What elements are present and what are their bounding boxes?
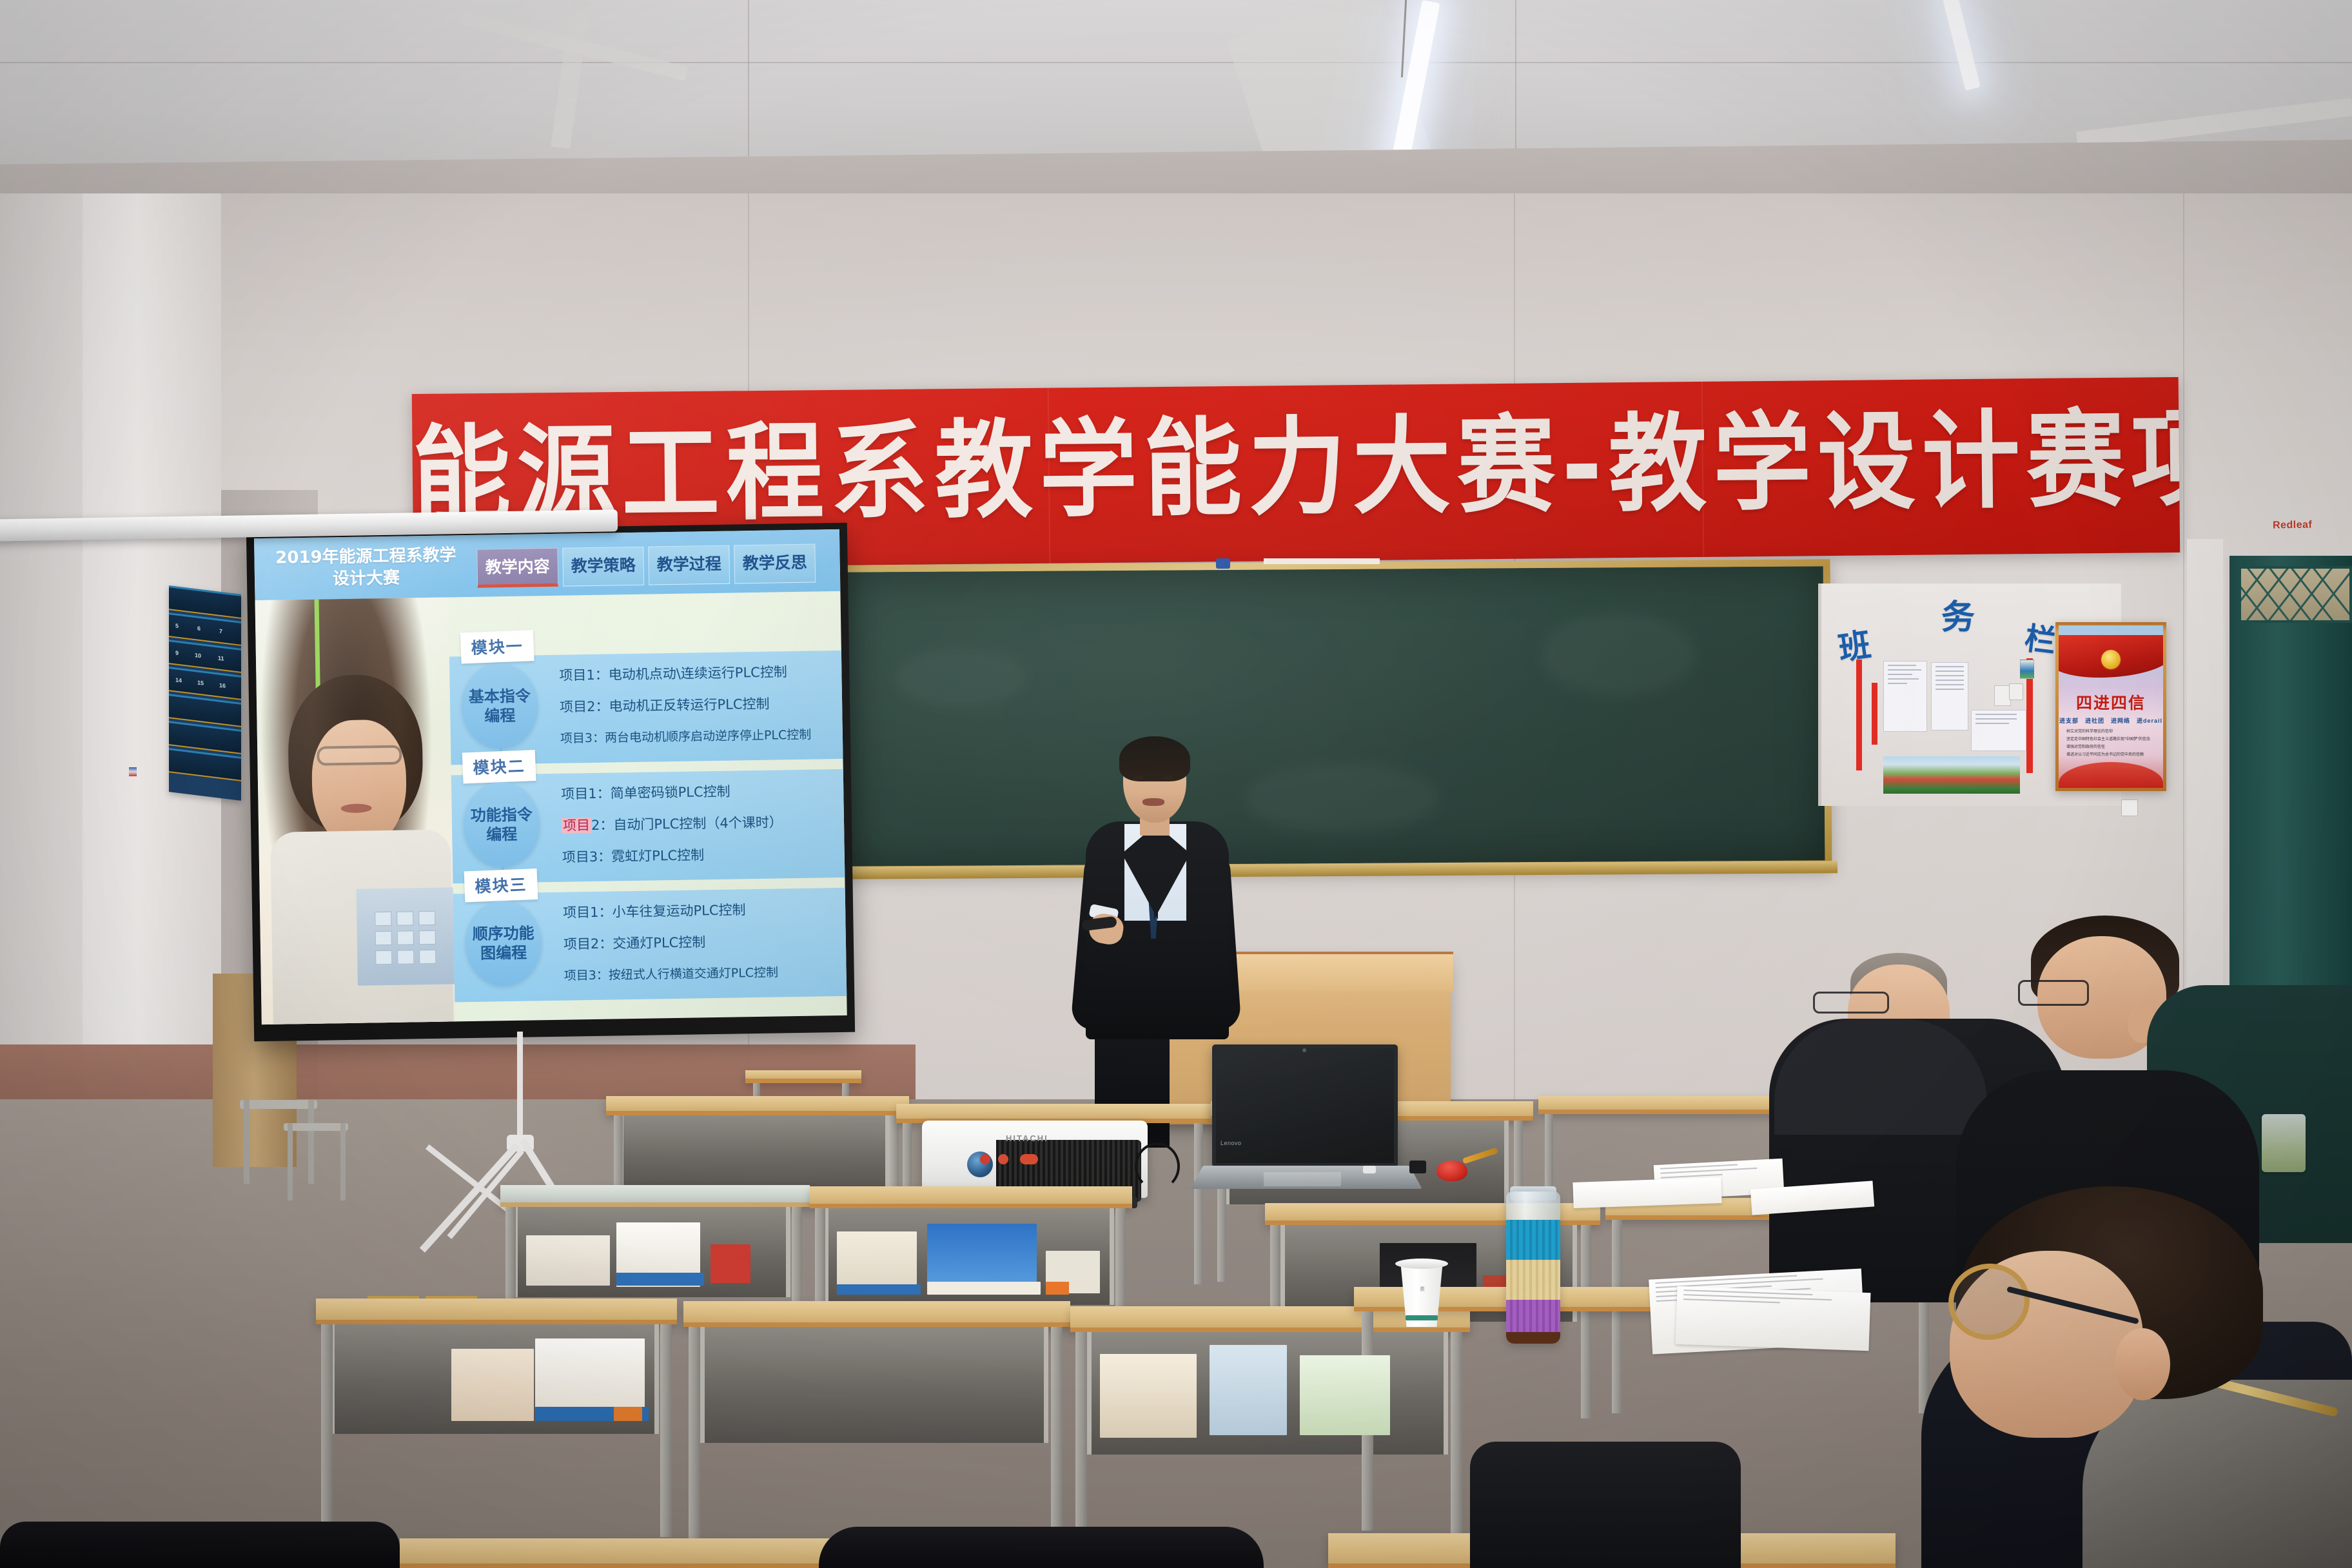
module-1-item-2: 项目2：电动机正反转运行PLC控制 [560, 688, 811, 723]
cubby-books-5 [1093, 1341, 1448, 1451]
class-board-char-3: 栏 [2023, 612, 2059, 661]
laptop-usb-dongle [1409, 1161, 1426, 1173]
desk-row1-a-cubby [619, 1115, 890, 1193]
paper-cup-logo: 茶 [1402, 1286, 1443, 1293]
poster-bullet: 增进对以习近平同志为总书记的党中央的信赖 [2066, 752, 2158, 758]
module-3-item-1: 项目1：小车往复运动PLC控制 [563, 894, 778, 929]
cubby-books-1 [520, 1219, 778, 1295]
laptop-brand-label: Lenovo [1220, 1140, 1242, 1146]
projector-brand-label: HITACHI [1006, 1133, 1048, 1143]
door-transom-window [2239, 566, 2352, 623]
projector-cable-2 [1135, 1142, 1180, 1190]
module-3-item-3: 项目3：按纽式人行横道交通灯PLC控制 [563, 957, 778, 992]
projection-screen: 2019年能源工程系教学设计大赛 教学内容 教学策略 教学过程 教学反思 [246, 523, 855, 1042]
desk-small-item [1363, 1166, 1376, 1173]
desk-row1-a [606, 1096, 909, 1115]
paper-cup-rim [1395, 1259, 1448, 1269]
light-switch-plate[interactable] [2009, 683, 2023, 700]
blackboard [838, 559, 1832, 873]
four-advance-poster: 四进四信 进支部 进社团 进网络 进derail 树立对党的科学理论的信仰 坚定… [2055, 622, 2166, 791]
slide-tab-reflection: 教学反思 [734, 544, 816, 584]
module-3-tag: 模块三 [464, 868, 538, 902]
module-2-item-2-rest: 2：自动门PLC控制（4个课时） [591, 814, 783, 833]
poster-bullet: 树立对党的科学理论的信仰 [2066, 729, 2158, 734]
projector-power-led [980, 1154, 990, 1164]
poster-bullet: 坚定走中国特色社会主义道路实现“中国梦”的信念 [2066, 737, 2158, 742]
paper-cup-band [1406, 1315, 1438, 1320]
judge-glass [2262, 1114, 2306, 1172]
laptop-screen[interactable] [1212, 1044, 1398, 1167]
slide-tab-process: 教学过程 [648, 545, 730, 585]
wall-sticker [129, 767, 137, 776]
class-board-char-1: 班 [1835, 619, 1874, 669]
blackboard-magnet [1216, 558, 1230, 569]
slide-tab-bar: 教学内容 教学策略 教学过程 教学反思 [476, 544, 816, 588]
module-3-items: 项目1：小车往复运动PLC控制 项目2：交通灯PLC控制 项目3：按纽式人行横道… [563, 894, 779, 992]
slide-title: 2019年能源工程系教学设计大赛 [272, 544, 460, 591]
notice-sheet-2 [1931, 662, 1968, 730]
laptop-webcam-icon [1302, 1048, 1306, 1052]
cubby-books-2 [833, 1220, 1110, 1304]
module-2-item-2-highlight: 项目 [562, 818, 591, 834]
module-2-items: 项目1：简单密码锁PLC控制 项目2：自动门PLC控制（4个课时） 项目3：霓虹… [561, 775, 783, 873]
youth-league-emblem-icon [2101, 650, 2121, 669]
poster-bullet: 增强对党和政府的信任 [2066, 745, 2158, 750]
judge-paper-2 [1573, 1177, 1721, 1208]
poster-title: 四进四信 [2059, 691, 2163, 714]
module-2-item-2: 项目2：自动门PLC控制（4个课时） [562, 807, 783, 841]
projector-temp-led [1020, 1154, 1038, 1164]
poster-bullets: 树立对党的科学理论的信仰 坚定走中国特色社会主义道路实现“中国梦”的信念 增强对… [2066, 729, 2158, 760]
classroom-photo: 能源工程系教学能力大赛-教学设计赛项 班 务 栏 [0, 0, 2352, 1568]
module-2-item-1: 项目1：简单密码锁PLC控制 [561, 775, 782, 810]
foreground-coat [819, 1527, 1264, 1568]
blackboard-tape [1264, 558, 1380, 564]
projector-lamp-led [998, 1154, 1008, 1164]
laptop-trackpad[interactable] [1264, 1172, 1341, 1186]
tripod-mast [517, 1032, 523, 1148]
presentation-slide: 2019年能源工程系教学设计大赛 教学内容 教学策略 教学过程 教学反思 [254, 529, 847, 1024]
screen-brand-label: Redleaf [2273, 520, 2313, 532]
cubby-books-4 [451, 1338, 658, 1435]
slide-tab-strategy: 教学策略 [562, 547, 644, 587]
notice-sheet-3 [1971, 710, 2026, 751]
class-board-char-2: 务 [1941, 590, 1975, 638]
tea-bottle[interactable] [1506, 1191, 1560, 1344]
module-1-item-3: 项目3：两台电动机顺序启动逆序停止PLC控制 [560, 720, 812, 755]
photo-glasses-icon [317, 745, 402, 766]
module-2-item-3: 项目3：霓虹灯PLC控制 [562, 838, 783, 873]
scenery-photo [1883, 756, 2020, 794]
notice-sheet-1 [1883, 661, 1927, 732]
desk-row2-a [500, 1185, 810, 1207]
slide-student-photo [255, 597, 456, 1024]
poster-subtitle: 进支部 进社团 进网络 进derail [2059, 716, 2163, 725]
desk-row4-a [400, 1538, 864, 1568]
slide-tab-content: 教学内容 [476, 548, 558, 588]
socket-plate[interactable] [2121, 799, 2138, 816]
judge-back-left-glasses-icon [1813, 992, 1889, 1014]
wall-return-right [2187, 539, 2223, 990]
module-2-tag: 模块二 [462, 750, 536, 783]
desk-row2-b [810, 1186, 1132, 1208]
judge-back-right-glasses-icon [2018, 980, 2089, 1006]
desk-row3-b-cubby [700, 1327, 1048, 1443]
foreground-bag [0, 1522, 400, 1568]
computer-mouse[interactable] [1436, 1161, 1467, 1181]
classroom-door[interactable] [2226, 556, 2352, 1046]
phone-pocket-rack: 5 6 7 9 10 11 14 15 16 [169, 585, 241, 801]
module-3-item-2: 项目2：交通灯PLC控制 [563, 925, 778, 960]
module-1-tag: 模块一 [460, 630, 534, 663]
wall-hook-tag [2020, 660, 2034, 679]
desk-row3-a [316, 1298, 677, 1324]
module-1-items: 项目1：电动机点动\连续运行PLC控制 项目2：电动机正反转运行PLC控制 项目… [559, 656, 812, 755]
judge-paper-4 [1676, 1286, 1871, 1351]
desk-row3-b [683, 1301, 1070, 1327]
foreground-chair-back [1470, 1442, 1741, 1568]
banner-text: 能源工程系教学能力大赛-教学设计赛项 [412, 400, 2180, 536]
back-desk-top-1 [745, 1070, 861, 1083]
module-1-item-1: 项目1：电动机点动\连续运行PLC控制 [559, 656, 810, 692]
judge-fg-ear [2115, 1328, 2170, 1400]
